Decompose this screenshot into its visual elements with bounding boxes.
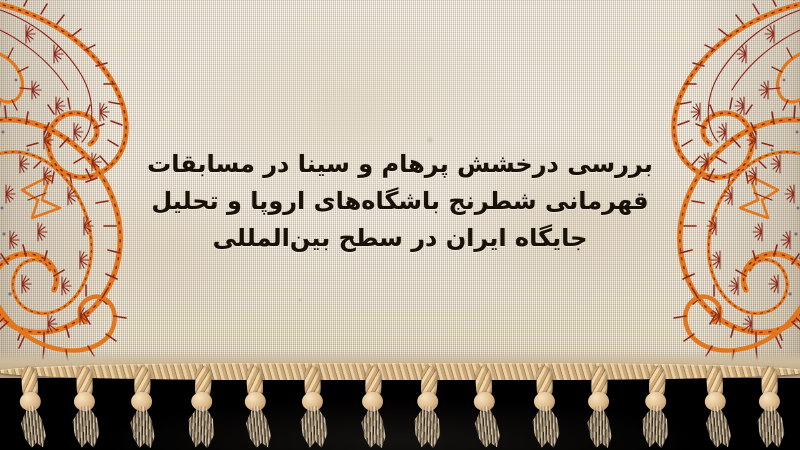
tassel-skirt — [71, 406, 100, 449]
title-line-2: قهرمانی شطرنج باشگاه‌های اروپا و تحلیل — [0, 183, 800, 220]
tassel — [585, 362, 613, 448]
tassel-skirt — [17, 405, 47, 449]
tassel-skirt — [471, 405, 501, 449]
tassel-skirt — [359, 406, 388, 449]
title-line-3: جایگاه ایران در سطح بین‌المللی — [0, 220, 800, 257]
tassel — [15, 361, 46, 448]
tassel-skirt — [702, 405, 732, 449]
tassel-skirt — [127, 406, 156, 449]
title-block: بررسی درخشش پرهام و سینا در مسابقات قهرم… — [0, 146, 800, 257]
tassel-skirt — [640, 405, 670, 449]
tassel — [360, 362, 388, 448]
tassel-skirt — [299, 406, 328, 449]
tassel — [531, 362, 559, 448]
tassel — [128, 362, 156, 448]
tassel — [701, 361, 732, 448]
tassel-skirt — [531, 406, 560, 449]
tassel — [469, 361, 500, 448]
tassel — [71, 362, 99, 448]
tassel — [187, 361, 218, 448]
tassel — [641, 361, 672, 448]
tassel — [241, 361, 272, 448]
tassel-fringe — [0, 362, 800, 450]
tassel — [299, 362, 327, 448]
tassel-skirt — [186, 405, 216, 449]
tassel-skirt — [584, 406, 613, 449]
tassel-skirt — [411, 405, 441, 449]
tassel-skirt — [756, 406, 785, 449]
tassel-skirt — [242, 405, 272, 449]
tassel — [757, 362, 785, 448]
title-line-1: بررسی درخشش پرهام و سینا در مسابقات — [0, 146, 800, 183]
tassel — [412, 361, 443, 448]
title-card: بررسی درخشش پرهام و سینا در مسابقات قهرم… — [0, 0, 800, 450]
